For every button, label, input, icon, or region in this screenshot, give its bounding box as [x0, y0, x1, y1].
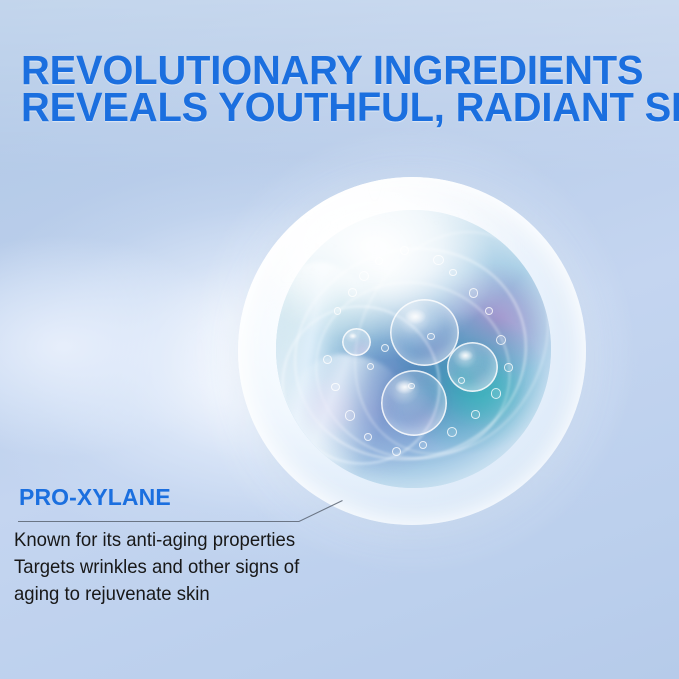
sphere-rim-light [239, 178, 585, 524]
description-line-1: Known for its anti-aging properties [14, 527, 337, 554]
headline-line-2: REVEALS YOUTHFUL, RADIANT SKIN [21, 89, 657, 126]
serum-sphere-image [238, 177, 586, 525]
ingredient-name: PRO-XYLANE [19, 484, 171, 511]
description-line-3: aging to rejuvenate skin [14, 581, 337, 608]
page-title: REVOLUTIONARY INGREDIENTS REVEALS YOUTHF… [21, 52, 657, 126]
ingredient-description: Known for its anti-aging properties Targ… [14, 527, 337, 608]
product-ingredient-poster: REVOLUTIONARY INGREDIENTS REVEALS YOUTHF… [0, 0, 679, 679]
description-line-2: Targets wrinkles and other signs of [14, 554, 337, 581]
sphere-outer-shell [238, 177, 586, 525]
